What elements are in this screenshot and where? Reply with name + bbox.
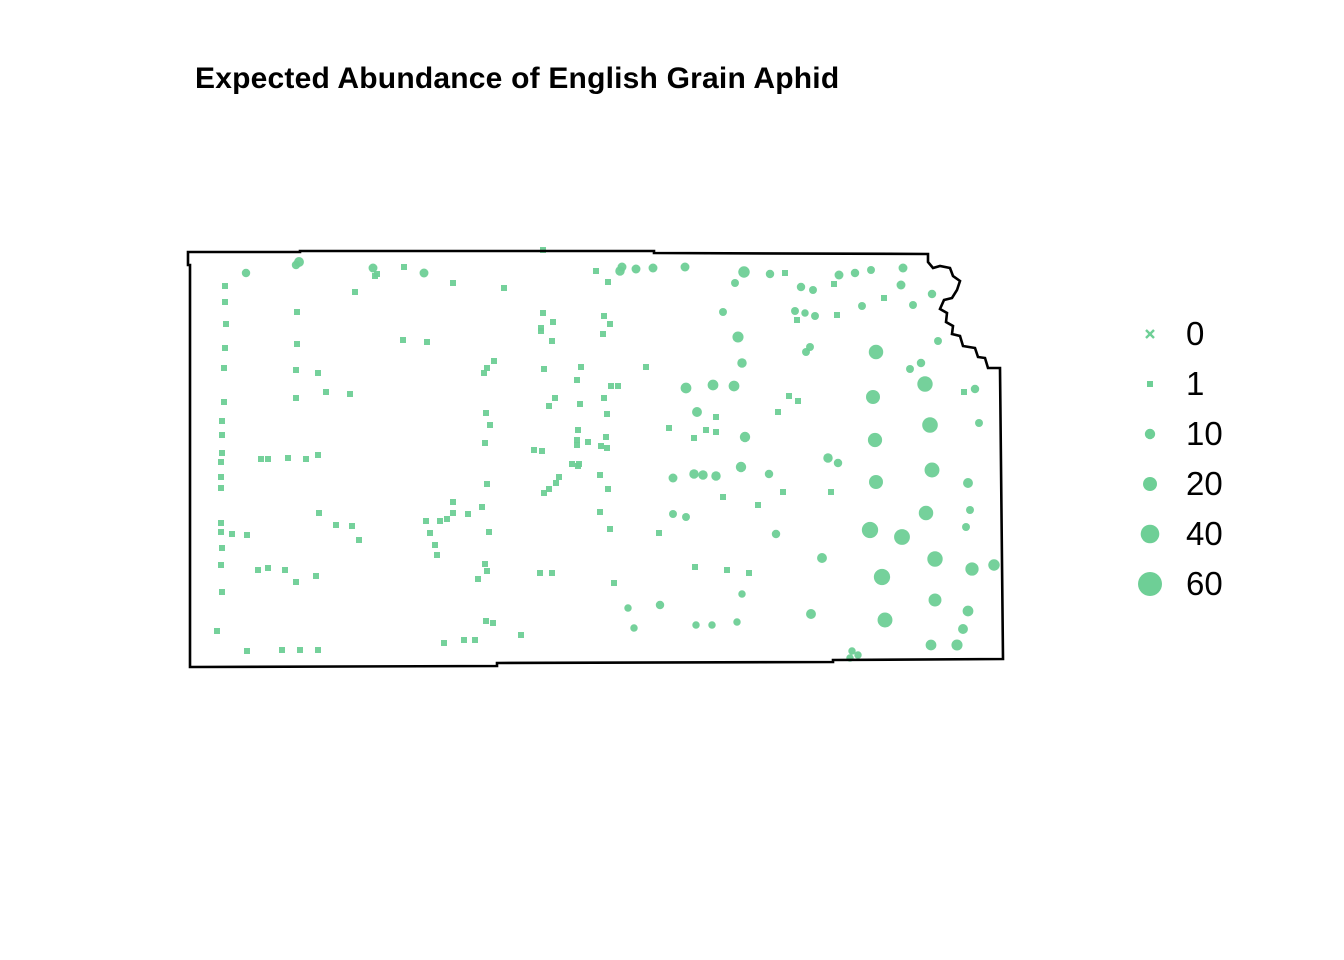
map-data-point — [934, 337, 942, 345]
map-data-point — [531, 447, 537, 453]
map-data-point — [420, 269, 429, 278]
map-data-point — [961, 389, 967, 395]
map-data-point — [244, 648, 250, 654]
map-data-point — [552, 395, 558, 401]
map-data-point — [315, 647, 321, 653]
map-data-point — [223, 321, 229, 327]
map-data-point — [282, 567, 288, 573]
map-data-point — [465, 511, 471, 517]
map-data-point — [601, 313, 607, 319]
map-data-point — [461, 637, 467, 643]
map-data-point — [869, 345, 883, 359]
map-data-point — [574, 377, 580, 383]
map-data-point — [738, 590, 745, 597]
map-data-point — [479, 504, 485, 510]
map-data-point — [963, 606, 974, 617]
map-data-point — [791, 307, 799, 315]
map-data-point — [491, 358, 497, 364]
map-data-point — [597, 509, 603, 515]
map-data-point — [669, 474, 678, 483]
map-data-point — [374, 271, 380, 277]
map-data-point — [922, 417, 938, 433]
map-data-point — [501, 285, 507, 291]
map-data-point — [242, 269, 250, 277]
map-data-point — [219, 432, 225, 438]
map-data-point — [669, 510, 677, 518]
map-data-point — [518, 632, 524, 638]
map-data-point — [878, 613, 893, 628]
map-data-point — [765, 470, 773, 478]
map-data-point — [475, 576, 481, 582]
map-data-point — [265, 565, 271, 571]
map-data-point — [737, 358, 746, 367]
map-data-point — [218, 529, 224, 535]
map-data-point — [549, 338, 555, 344]
map-data-point — [537, 570, 543, 576]
map-data-point — [708, 380, 719, 391]
map-data-point — [831, 281, 837, 287]
map-data-point — [472, 637, 478, 643]
legend-label: 1 — [1186, 360, 1204, 408]
map-data-point — [746, 570, 752, 576]
map-data-point — [214, 628, 220, 634]
map-data-point — [303, 456, 309, 462]
map-data-point — [258, 456, 264, 462]
map-data-point — [285, 455, 291, 461]
map-data-point — [222, 283, 228, 289]
map-data-point — [279, 647, 285, 653]
map-data-point — [929, 594, 942, 607]
map-data-point — [553, 480, 559, 486]
legend-row[interactable]: 40 — [1130, 510, 1320, 558]
map-data-point — [222, 299, 228, 305]
map-data-point — [219, 589, 225, 595]
map-data-point — [400, 337, 406, 343]
circle-icon — [1130, 360, 1170, 408]
map-data-point — [951, 639, 962, 650]
map-data-point — [490, 620, 496, 626]
map-data-point — [450, 499, 456, 505]
map-data-point — [604, 411, 610, 417]
map-data-point — [218, 485, 224, 491]
map-data-point — [806, 343, 814, 351]
map-data-point — [218, 459, 224, 465]
map-data-point — [575, 463, 581, 469]
legend-label: 10 — [1186, 410, 1223, 458]
map-data-point — [740, 432, 750, 442]
map-data-point — [703, 427, 709, 433]
map-data-point — [681, 263, 690, 272]
map-data-point — [541, 490, 547, 496]
map-data-point — [484, 481, 490, 487]
map-data-point — [578, 364, 584, 370]
map-data-point — [229, 531, 235, 537]
map-data-point — [539, 448, 545, 454]
legend-label: 20 — [1186, 460, 1223, 508]
map-data-point — [881, 295, 887, 301]
map-data-point — [775, 409, 781, 415]
map-data-point — [681, 383, 692, 394]
circle-icon — [1130, 410, 1170, 458]
map-data-point — [486, 529, 492, 535]
map-data-point — [719, 308, 727, 316]
legend-row[interactable]: 60 — [1130, 560, 1320, 608]
map-data-point — [867, 266, 875, 274]
map-data-point — [569, 461, 575, 467]
map-data-point — [988, 559, 999, 570]
map-data-point — [218, 562, 224, 568]
kansas-boundary-path — [188, 251, 1003, 667]
map-data-point — [347, 391, 353, 397]
map-data-point — [349, 523, 355, 529]
legend-label: 0 — [1186, 310, 1204, 358]
map-data-point — [611, 580, 617, 586]
map-data-point — [817, 553, 827, 563]
map-data-point — [441, 640, 447, 646]
map-data-point — [603, 434, 609, 440]
map-data-point — [965, 562, 978, 575]
map-data-point — [927, 551, 942, 566]
map-data-point — [450, 280, 456, 286]
map-data-point — [851, 269, 859, 277]
map-data-point — [834, 312, 840, 318]
map-data-point — [315, 370, 321, 376]
map-data-point — [483, 410, 489, 416]
map-data-point — [801, 309, 808, 316]
map-data-point — [423, 518, 429, 524]
circle-icon — [1130, 460, 1170, 508]
map-data-point — [848, 647, 855, 654]
map-data-point — [293, 395, 299, 401]
kansas-map-svg — [0, 0, 1050, 720]
map-data-point — [333, 522, 339, 528]
map-data-point — [692, 564, 698, 570]
map-data-point — [221, 365, 227, 371]
map-data-point — [574, 437, 580, 443]
map-data-point — [834, 459, 842, 467]
map-data-point — [632, 265, 641, 274]
map-data-point — [649, 264, 658, 273]
map-data-point — [733, 618, 740, 625]
map-data-point — [862, 522, 878, 538]
map-data-point — [546, 403, 552, 409]
map-data-point — [607, 321, 613, 327]
map-data-point — [487, 422, 493, 428]
map-data-point — [897, 281, 906, 290]
map-data-point — [401, 264, 407, 270]
map-data-point — [720, 494, 726, 500]
map-data-point — [828, 489, 834, 495]
map-data-point — [218, 474, 224, 480]
map-data-point — [244, 532, 250, 538]
map-data-point — [577, 401, 583, 407]
map-data-point — [691, 435, 697, 441]
legend-label: 40 — [1186, 510, 1223, 558]
map-data-point — [736, 462, 746, 472]
circle-icon — [1130, 560, 1170, 608]
map-data-point — [294, 341, 300, 347]
map-data-point — [713, 414, 719, 420]
map-data-point — [713, 429, 719, 435]
map-data-point — [292, 261, 300, 269]
map-data-point — [615, 383, 621, 389]
map-data-point — [437, 518, 443, 524]
map-data-point — [795, 398, 801, 404]
map-data-point — [450, 510, 456, 516]
map-data-point — [481, 370, 487, 376]
map-data-point — [766, 270, 774, 278]
legend-row[interactable]: 20 — [1130, 460, 1320, 508]
map-data-point — [265, 456, 271, 462]
map-data-point — [975, 419, 983, 427]
map-data-point — [643, 364, 649, 370]
map-data-point — [604, 445, 610, 451]
legend-row[interactable]: 1 — [1130, 360, 1320, 408]
map-data-point — [666, 425, 672, 431]
data-points-layer — [214, 247, 1000, 662]
map-data-point — [219, 418, 225, 424]
map-data-point — [780, 489, 786, 495]
map-data-point — [724, 567, 730, 573]
map-data-point — [958, 624, 968, 634]
map-data-point — [483, 618, 489, 624]
map-data-point — [293, 579, 299, 585]
map-data-point — [971, 385, 979, 393]
map-data-point — [794, 317, 800, 323]
map-data-point — [698, 470, 707, 479]
map-data-point — [835, 271, 844, 280]
map-data-point — [630, 624, 637, 631]
map-data-point — [708, 621, 715, 628]
map-data-point — [656, 530, 662, 536]
map-data-point — [434, 552, 440, 558]
map-data-point — [601, 395, 607, 401]
map-data-point — [966, 506, 974, 514]
size-legend: 0110204060 — [1130, 310, 1320, 610]
map-data-point — [772, 530, 780, 538]
circle-icon — [1130, 510, 1170, 558]
map-data-point — [711, 471, 720, 480]
legend-row[interactable]: 0 — [1130, 310, 1320, 358]
map-data-point — [811, 312, 819, 320]
map-data-point — [692, 407, 702, 417]
map-data-point — [608, 383, 614, 389]
map-data-point — [221, 399, 227, 405]
map-data-point — [556, 474, 562, 480]
map-data-point — [858, 302, 866, 310]
map-data-point — [869, 475, 883, 489]
map-data-point — [605, 486, 611, 492]
map-data-point — [600, 331, 606, 337]
map-data-point — [894, 529, 910, 545]
map-data-point — [316, 510, 322, 516]
map-data-point — [962, 523, 970, 531]
map-data-point — [482, 561, 488, 567]
map-data-point — [255, 567, 261, 573]
map-data-point — [738, 266, 749, 277]
map-data-point — [806, 609, 816, 619]
map-data-point — [797, 283, 805, 291]
map-data-point — [219, 545, 225, 551]
map-data-point — [607, 526, 613, 532]
map-data-point — [809, 286, 817, 294]
map-data-point — [782, 270, 788, 276]
map-data-point — [218, 520, 224, 526]
map-data-point — [689, 469, 698, 478]
map-data-point — [732, 331, 743, 342]
map-data-point — [786, 393, 792, 399]
map-data-point — [692, 621, 699, 628]
map-data-point — [222, 345, 228, 351]
map-data-point — [550, 319, 556, 325]
bubble-map — [0, 0, 1050, 720]
map-data-point — [219, 450, 225, 456]
map-data-point — [315, 452, 321, 458]
map-data-point — [823, 453, 832, 462]
map-data-point — [899, 264, 908, 273]
map-data-point — [925, 463, 940, 478]
map-data-point — [352, 289, 358, 295]
map-data-point — [729, 381, 740, 392]
map-data-point — [593, 268, 599, 274]
map-data-point — [356, 537, 362, 543]
map-data-point — [624, 604, 631, 611]
map-data-point — [919, 506, 933, 520]
map-data-point — [432, 542, 438, 548]
map-data-point — [323, 389, 329, 395]
map-data-point — [917, 359, 925, 367]
map-data-point — [294, 309, 300, 315]
map-data-point — [541, 366, 547, 372]
map-data-point — [656, 601, 664, 609]
cross-icon — [1130, 310, 1170, 358]
map-data-point — [605, 279, 611, 285]
map-data-point — [926, 640, 937, 651]
map-data-point — [618, 263, 627, 272]
map-data-point — [906, 365, 914, 373]
map-data-point — [755, 502, 761, 508]
legend-row[interactable]: 10 — [1130, 410, 1320, 458]
map-data-point — [540, 310, 546, 316]
map-data-point — [909, 301, 917, 309]
map-data-point — [424, 339, 430, 345]
map-data-point — [293, 367, 299, 373]
map-data-point — [549, 570, 555, 576]
map-data-point — [427, 530, 433, 536]
map-data-point — [868, 433, 882, 447]
map-data-point — [731, 279, 739, 287]
map-data-point — [963, 478, 973, 488]
map-data-point — [444, 516, 450, 522]
map-data-point — [482, 440, 488, 446]
map-data-point — [597, 472, 603, 478]
map-data-point — [484, 568, 490, 574]
map-data-point — [874, 569, 890, 585]
map-data-point — [585, 439, 591, 445]
map-data-point — [313, 573, 319, 579]
map-data-point — [538, 328, 544, 334]
plot-root: Expected Abundance of English Grain Aphi… — [0, 0, 1344, 960]
map-data-point — [598, 443, 604, 449]
map-data-point — [866, 390, 880, 404]
map-data-point — [917, 376, 932, 391]
map-data-point — [575, 427, 581, 433]
map-data-point — [928, 290, 936, 298]
map-data-point — [297, 647, 303, 653]
legend-label: 60 — [1186, 560, 1223, 608]
map-data-point — [682, 513, 690, 521]
